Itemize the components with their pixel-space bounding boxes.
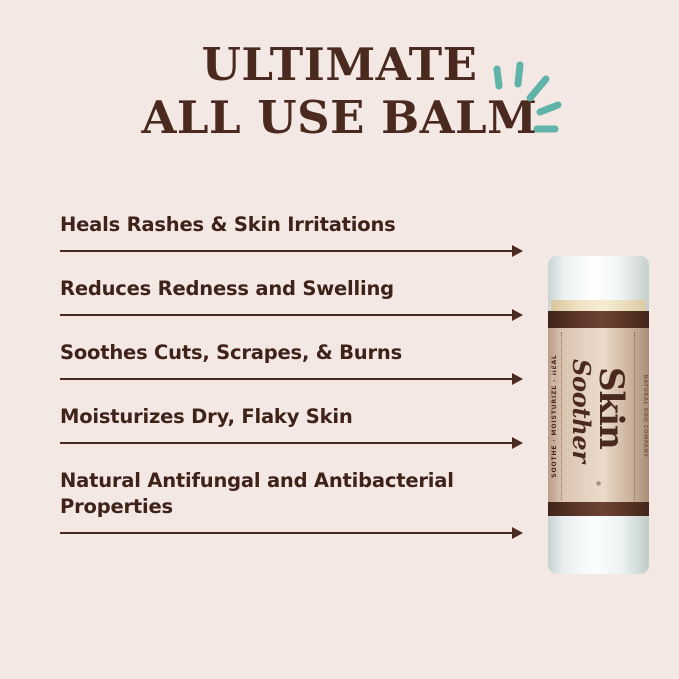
tube-cap-top bbox=[548, 256, 649, 304]
arrow-head-icon bbox=[512, 245, 523, 257]
paw-print-icon: ❄ bbox=[596, 480, 602, 488]
benefit-label: Moisturizes Dry, Flaky Skin bbox=[60, 404, 530, 430]
arrow-shaft bbox=[60, 532, 515, 534]
list-item: Heals Rashes & Skin Irritations bbox=[60, 212, 530, 257]
benefit-label: Soothes Cuts, Scrapes, & Burns bbox=[60, 340, 530, 366]
arrow-shaft bbox=[60, 250, 515, 252]
arrow-divider bbox=[60, 373, 525, 385]
title-line-2: All Use Balm bbox=[0, 91, 679, 144]
product-name-secondary: Soother bbox=[569, 359, 593, 463]
arrow-head-icon bbox=[512, 527, 523, 539]
infographic-canvas: Ultimate All Use Balm Heals Rashes & Ski… bbox=[0, 0, 679, 679]
benefit-label: Heals Rashes & Skin Irritations bbox=[60, 212, 530, 238]
benefit-list: Heals Rashes & Skin Irritations Reduces … bbox=[60, 212, 530, 558]
arrow-shaft bbox=[60, 442, 515, 444]
arrow-head-icon bbox=[512, 309, 523, 321]
label-band-bottom bbox=[548, 502, 649, 516]
arrow-divider bbox=[60, 437, 525, 449]
arrow-shaft bbox=[60, 314, 515, 316]
page-title: Ultimate All Use Balm bbox=[0, 38, 679, 144]
list-item: Soothes Cuts, Scrapes, & Burns bbox=[60, 340, 530, 385]
arrow-divider bbox=[60, 527, 525, 539]
title-line-1: Ultimate bbox=[0, 38, 679, 91]
benefit-label: Natural Antifungal and Antibacterial Pro… bbox=[60, 468, 530, 520]
arrow-divider bbox=[60, 309, 525, 321]
tube-cap-bottom bbox=[548, 516, 649, 574]
product-image: to open SOOTHE · MOISTURIZE · HEAL Heals… bbox=[548, 256, 649, 574]
benefit-label: Reduces Redness and Swelling bbox=[60, 276, 530, 302]
arrow-head-icon bbox=[512, 437, 523, 449]
arrow-divider bbox=[60, 245, 525, 257]
cap-instruction-text: to open bbox=[550, 367, 556, 388]
product-name-block: Soother Skin bbox=[548, 342, 649, 474]
list-item: Moisturizes Dry, Flaky Skin bbox=[60, 404, 530, 449]
product-name-primary: Skin bbox=[594, 367, 628, 449]
list-item: Reduces Redness and Swelling bbox=[60, 276, 530, 321]
list-item: Natural Antifungal and Antibacterial Pro… bbox=[60, 468, 530, 539]
tube-body: to open SOOTHE · MOISTURIZE · HEAL Heals… bbox=[548, 256, 649, 574]
product-label: SOOTHE · MOISTURIZE · HEAL Heals & Sooth… bbox=[548, 328, 649, 504]
arrow-head-icon bbox=[512, 373, 523, 385]
arrow-shaft bbox=[60, 378, 515, 380]
